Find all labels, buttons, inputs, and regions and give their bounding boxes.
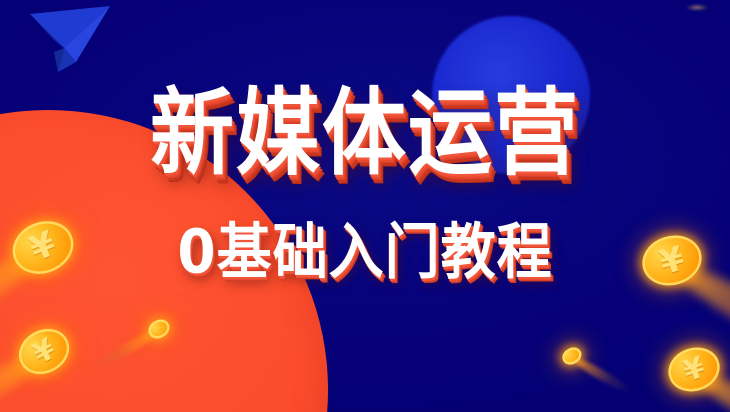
coin-bottom-right-yen-symbol: ¥ [680,352,708,386]
banner-title: 新媒体运营 [150,86,580,180]
speck-dot [686,4,708,11]
coin-bottom-left-yen-symbol: ¥ [28,334,60,369]
banner-canvas: 新媒体运营 0基础入门教程 ¥¥¥¥ [0,0,730,412]
headline-container: 新媒体运营 [0,86,730,170]
subtitle-container: 0基础入门教程 [0,222,730,277]
paper-plane-icon [24,4,116,78]
banner-subtitle: 0基础入门教程 [177,222,552,283]
